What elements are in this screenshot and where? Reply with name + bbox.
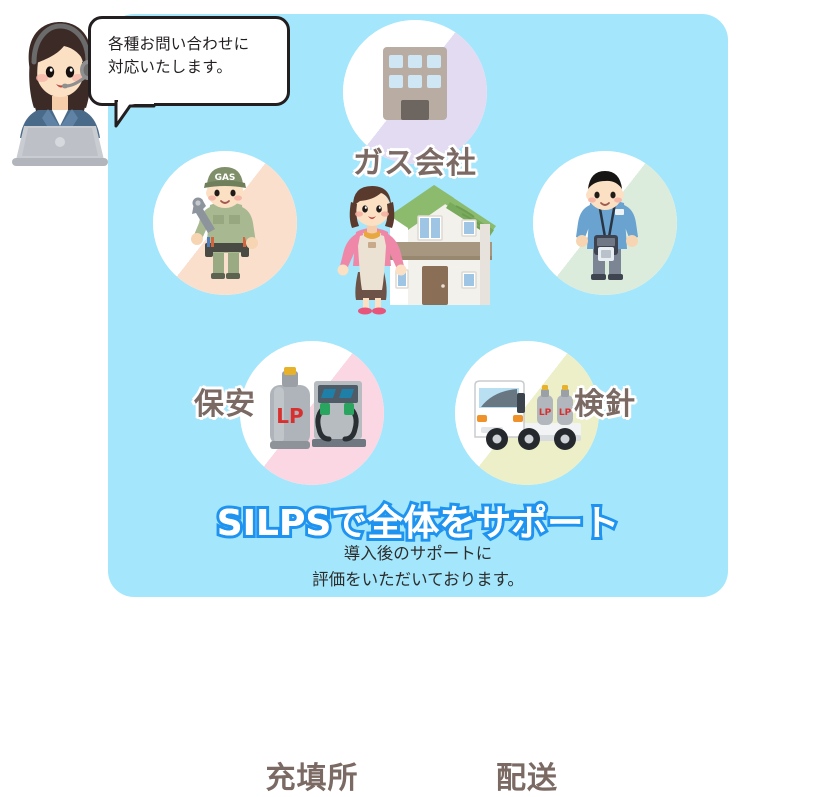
speech-bubble: 各種お問い合わせに 対応いたします。 <box>88 16 290 106</box>
svg-text:GAS: GAS <box>215 173 236 183</box>
node-gas-company[interactable]: ガス会社 <box>343 20 487 164</box>
speech-bubble-line-2: 対応いたします。 <box>108 56 277 79</box>
speech-bubble-line-1: 各種お問い合わせに <box>108 33 277 56</box>
footer-subtext-line-1: 導入後のサポートに <box>108 541 728 567</box>
node-meter-reading[interactable]: 検針 <box>533 151 677 295</box>
node-label: ガス会社 <box>343 138 487 182</box>
gas-technician-icon: GAS <box>153 151 297 295</box>
node-label: 配送 <box>455 753 599 797</box>
footer-headline: SILPSで全体をサポート <box>108 494 728 546</box>
node-label: 検針 <box>533 379 677 423</box>
meter-reader-icon <box>533 151 677 295</box>
footer-subtext: 導入後のサポートに 評価をいただいております。 <box>108 541 728 594</box>
node-label: 充填所 <box>240 753 384 797</box>
footer-subtext-line-2: 評価をいただいております。 <box>108 567 728 593</box>
speech-bubble-text: 各種お問い合わせに 対応いたします。 <box>108 33 277 80</box>
speech-bubble-tail <box>114 100 158 128</box>
node-label: 保安 <box>153 379 297 423</box>
household-illustration <box>330 180 510 315</box>
housewife-and-house-icon <box>330 180 510 315</box>
node-safety[interactable]: GAS 保安 <box>153 151 297 295</box>
infographic-canvas: 各種お問い合わせに 対応いたします。 ガス会社 <box>0 0 830 605</box>
